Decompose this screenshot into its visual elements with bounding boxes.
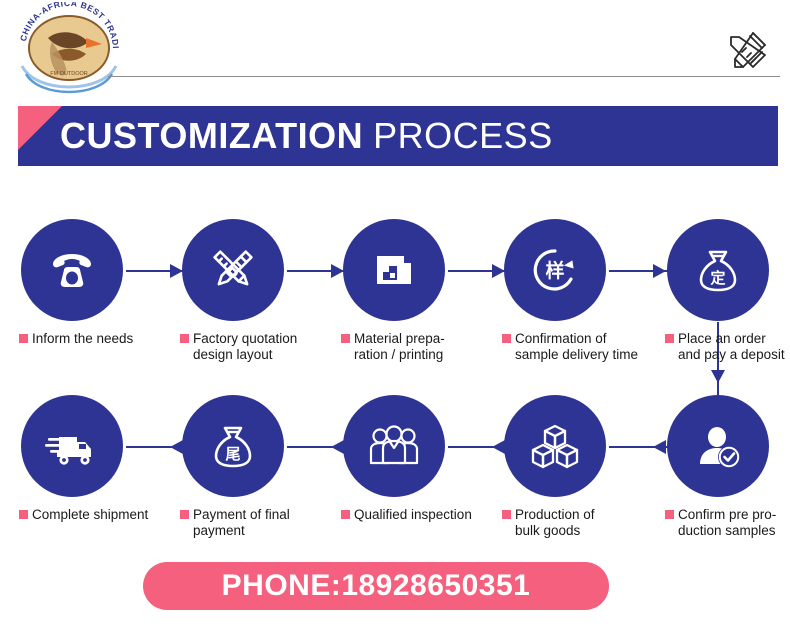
step-8-label: Qualified inspection bbox=[341, 507, 486, 523]
step-10-label-line1: Complete shipment bbox=[32, 507, 148, 522]
phone-banner[interactable]: PHONE:18928650351 bbox=[143, 562, 609, 610]
flow-step-10[interactable]: Complete shipment bbox=[21, 395, 123, 497]
step-3-label: Material prepa- ration / printing bbox=[341, 331, 481, 363]
step-5-label-line2: and pay a deposit bbox=[665, 347, 790, 363]
step-5-label-line1: Place an order bbox=[678, 331, 766, 346]
bullet-icon bbox=[665, 334, 674, 343]
flow-step-2[interactable]: Factory quotation design layout bbox=[182, 219, 284, 321]
step-1-circle[interactable] bbox=[21, 219, 123, 321]
bullet-icon bbox=[341, 510, 350, 519]
flow-step-3[interactable]: Material prepa- ration / printing bbox=[343, 219, 445, 321]
step-1-label-line1: Inform the needs bbox=[32, 331, 133, 346]
bullet-icon bbox=[19, 334, 28, 343]
delivery-truck-icon bbox=[43, 417, 101, 475]
customization-process-flow: Inform the needs bbox=[0, 0, 790, 635]
flow-step-4[interactable]: 样 Confirmation of sample delivery time bbox=[504, 219, 606, 321]
step-10-circle[interactable] bbox=[21, 395, 123, 497]
step-8-circle[interactable] bbox=[343, 395, 445, 497]
step-7-circle[interactable] bbox=[504, 395, 606, 497]
step-5-circle[interactable]: 定 bbox=[667, 219, 769, 321]
step-4-icon-glyph: 样 bbox=[545, 259, 564, 282]
step-3-circle[interactable] bbox=[343, 219, 445, 321]
step-7-label-line1: Production of bbox=[515, 507, 595, 522]
step-1-label: Inform the needs bbox=[19, 331, 159, 347]
ruler-pencil-icon bbox=[205, 242, 261, 298]
flow-step-1[interactable]: Inform the needs bbox=[21, 219, 123, 321]
step-2-label: Factory quotation design layout bbox=[180, 331, 320, 363]
bullet-icon bbox=[341, 334, 350, 343]
bullet-icon bbox=[180, 334, 189, 343]
flow-step-7[interactable]: Production of bulk goods bbox=[504, 395, 606, 497]
people-group-icon bbox=[365, 417, 423, 475]
step-2-label-line1: Factory quotation bbox=[193, 331, 297, 346]
material-printing-icon bbox=[366, 242, 422, 298]
step-9-label: Payment of final payment bbox=[180, 507, 320, 539]
phone-number: PHONE:18928650351 bbox=[222, 569, 531, 603]
step-9-icon-glyph: 尾 bbox=[225, 446, 240, 463]
money-bag-final-icon: 尾 bbox=[205, 418, 261, 474]
sample-refresh-icon: 样 bbox=[526, 241, 584, 299]
step-6-label-line1: Confirm pre pro- bbox=[678, 507, 776, 522]
flow-step-5[interactable]: 定 Place an order and pay a deposit bbox=[667, 219, 769, 321]
step-4-label-line2: sample delivery time bbox=[502, 347, 642, 363]
step-10-label: Complete shipment bbox=[19, 507, 164, 523]
step-7-label-line2: bulk goods bbox=[502, 523, 642, 539]
bullet-icon bbox=[180, 510, 189, 519]
step-2-circle[interactable] bbox=[182, 219, 284, 321]
step-4-label: Confirmation of sample delivery time bbox=[502, 331, 642, 363]
flow-step-6[interactable]: Confirm pre pro- duction samples bbox=[667, 395, 769, 497]
bullet-icon bbox=[19, 510, 28, 519]
step-9-label-line1: Payment of final bbox=[193, 507, 290, 522]
step-7-label: Production of bulk goods bbox=[502, 507, 642, 539]
telephone-icon bbox=[44, 242, 100, 298]
step-3-label-line1: Material prepa- bbox=[354, 331, 445, 346]
step-6-label: Confirm pre pro- duction samples bbox=[665, 507, 790, 539]
money-bag-deposit-icon: 定 bbox=[690, 242, 746, 298]
step-2-label-line2: design layout bbox=[180, 347, 320, 363]
step-9-circle[interactable]: 尾 bbox=[182, 395, 284, 497]
bullet-icon bbox=[502, 334, 511, 343]
step-6-circle[interactable] bbox=[667, 395, 769, 497]
step-3-label-line2: ration / printing bbox=[341, 347, 481, 363]
step-5-icon-glyph: 定 bbox=[710, 269, 725, 287]
bullet-icon bbox=[502, 510, 511, 519]
step-8-label-line1: Qualified inspection bbox=[354, 507, 472, 522]
boxes-icon bbox=[527, 418, 583, 474]
flow-step-9[interactable]: 尾 Payment of final payment bbox=[182, 395, 284, 497]
step-4-circle[interactable]: 样 bbox=[504, 219, 606, 321]
step-6-label-line2: duction samples bbox=[665, 523, 790, 539]
bullet-icon bbox=[665, 510, 674, 519]
step-5-label: Place an order and pay a deposit bbox=[665, 331, 790, 363]
step-4-label-line1: Confirmation of bbox=[515, 331, 607, 346]
flow-step-8[interactable]: Qualified inspection bbox=[343, 395, 445, 497]
step-9-label-line2: payment bbox=[180, 523, 320, 539]
person-check-icon bbox=[690, 418, 746, 474]
